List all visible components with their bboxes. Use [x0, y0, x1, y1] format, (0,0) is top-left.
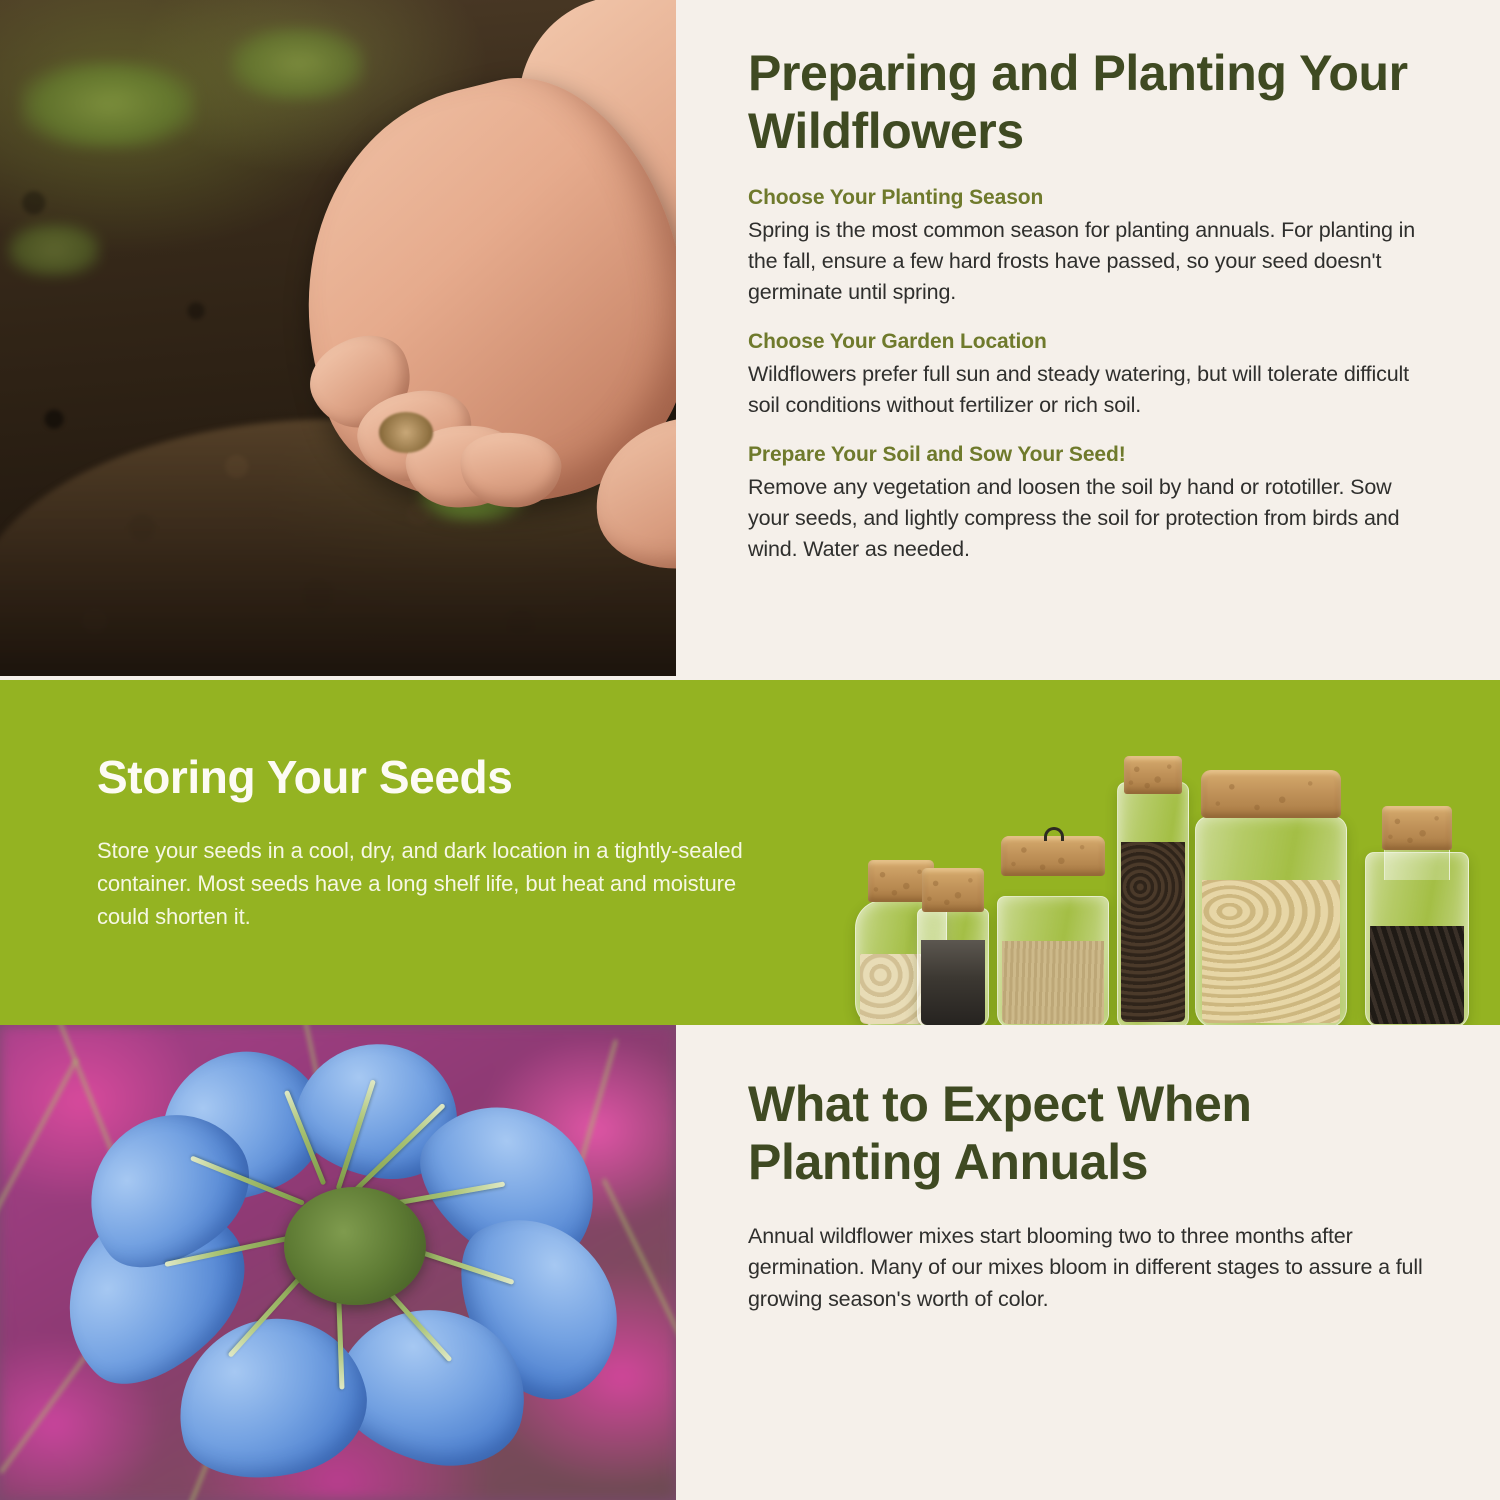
jar-tall-brown-seed — [1117, 756, 1189, 1025]
blurred-foliage-icon — [230, 27, 365, 101]
expect-title: What to Expect When Planting Annuals — [748, 1075, 1430, 1191]
expect-text-column: What to Expect When Planting Annuals Ann… — [676, 1025, 1500, 1500]
storing-text-column: Storing Your Seeds Store your seeds in a… — [97, 750, 777, 933]
storing-seeds-section: Storing Your Seeds Store your seeds in a… — [0, 680, 1500, 1025]
seed-fill — [1002, 941, 1103, 1024]
planting-season-block: Choose Your Planting Season Spring is th… — [748, 186, 1438, 308]
flower-center — [284, 1187, 426, 1306]
blue-flower-photo — [0, 1025, 676, 1500]
seed-fill — [1370, 926, 1464, 1023]
garden-location-heading: Choose Your Garden Location — [748, 330, 1438, 354]
what-to-expect-section: What to Expect When Planting Annuals Ann… — [0, 1025, 1500, 1500]
cork-lid-icon — [1124, 756, 1182, 794]
expect-body: Annual wildflower mixes start blooming t… — [748, 1221, 1430, 1315]
page-title: Preparing and Planting Your Wildflowers — [748, 44, 1438, 160]
garden-location-block: Choose Your Garden Location Wildflowers … — [748, 330, 1438, 421]
jar-fine-tan-seed — [997, 836, 1109, 1025]
seed-jars-photo — [845, 688, 1485, 1025]
storing-title: Storing Your Seeds — [97, 750, 777, 804]
prepare-soil-heading: Prepare Your Soil and Sow Your Seed! — [748, 443, 1438, 467]
jar-pumpkin-seeds — [1195, 770, 1347, 1025]
stem — [0, 1058, 78, 1287]
preparing-planting-section: Preparing and Planting Your Wildflowers … — [0, 0, 1500, 680]
infographic-page: Preparing and Planting Your Wildflowers … — [0, 0, 1500, 1500]
prepare-soil-block: Prepare Your Soil and Sow Your Seed! Rem… — [748, 443, 1438, 565]
planting-season-body: Spring is the most common season for pla… — [748, 215, 1438, 308]
blurred-foliage-icon — [20, 61, 196, 149]
blurred-foliage-icon — [7, 223, 102, 277]
cork-lid-icon — [922, 868, 984, 912]
glass-body — [1117, 782, 1189, 1025]
lid-handle-icon — [1044, 827, 1064, 841]
garden-location-body: Wildflowers prefer full sun and steady w… — [748, 359, 1438, 421]
cork-lid-icon — [1201, 770, 1341, 818]
soil-sowing-photo — [0, 0, 676, 676]
jar-poppy-seed — [917, 868, 989, 1025]
planting-season-heading: Choose Your Planting Season — [748, 186, 1438, 210]
glass-body — [1195, 816, 1347, 1025]
seed-fill — [1202, 880, 1340, 1023]
prepare-soil-body: Remove any vegetation and loosen the soi… — [748, 472, 1438, 565]
cork-lid-icon — [1001, 836, 1105, 876]
jar-sunflower-seeds — [1365, 806, 1469, 1025]
storing-body: Store your seeds in a cool, dry, and dar… — [97, 834, 777, 933]
preparing-text-column: Preparing and Planting Your Wildflowers … — [676, 0, 1500, 680]
seed-fill — [1121, 842, 1185, 1023]
seed-fill — [921, 940, 985, 1025]
glass-body — [917, 908, 989, 1025]
cork-lid-icon — [1382, 806, 1452, 850]
glass-body — [997, 896, 1109, 1025]
seed-pinch — [379, 412, 433, 453]
